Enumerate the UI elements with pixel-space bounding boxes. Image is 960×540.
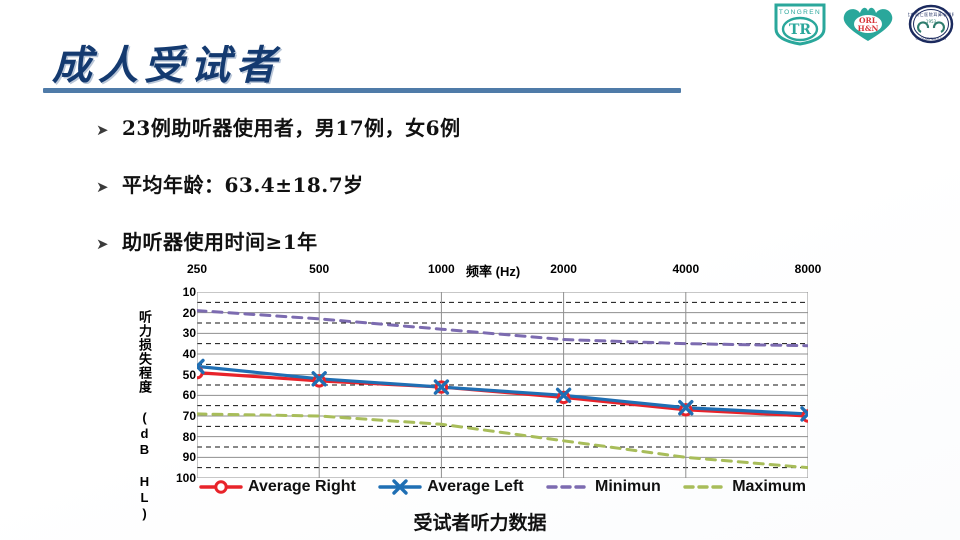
x-tick-label: 8000 xyxy=(795,262,822,276)
institution-emblem: 北京同仁医院耳鼻咽喉科 1953 OTOLARYNGOLOGY xyxy=(908,4,954,49)
y-tick-label: 50 xyxy=(183,368,196,382)
x-tick-label: 1000 xyxy=(428,262,455,276)
slide-canvas: TONGREN TR ORL H&N 北京同仁医院耳鼻咽喉科 1953 OTOL… xyxy=(0,0,960,540)
svg-text:H&N: H&N xyxy=(858,24,879,33)
bullet-arrow-icon: ➤ xyxy=(96,180,122,195)
y-tick-label: 90 xyxy=(183,450,196,464)
bullet-text: 助听器使用时间≥1年 xyxy=(122,226,318,255)
bullet-arrow-icon: ➤ xyxy=(96,123,122,138)
audiogram-chart: 2505001000200040008000 频率 (Hz) 听力损失程度 (d… xyxy=(140,262,820,507)
x-tick-label: 500 xyxy=(309,262,329,276)
plot-area xyxy=(197,292,808,478)
y-tick-label: 80 xyxy=(183,430,196,444)
legend-item[interactable]: Average Left xyxy=(378,478,523,496)
y-tick-label: 40 xyxy=(183,347,196,361)
bullet-text: 23例助听器使用者，男17例，女6例 xyxy=(122,112,461,141)
legend-label: Maximum xyxy=(732,478,806,496)
legend-item[interactable]: Average Right xyxy=(199,478,356,496)
y-axis-tick-labels: 102030405060708090100 xyxy=(158,284,196,474)
y-tick-label: 100 xyxy=(176,471,196,485)
x-tick-label: 4000 xyxy=(672,262,699,276)
y-tick-label: 20 xyxy=(183,306,196,320)
svg-text:OTOLARYNGOLOGY: OTOLARYNGOLOGY xyxy=(916,37,947,41)
y-axis-title: 听力损失程度 (dB HL) xyxy=(134,310,154,522)
x-tick-label: 2000 xyxy=(550,262,577,276)
y-tick-label: 30 xyxy=(183,326,196,340)
page-title: 成人受试者 xyxy=(52,33,282,91)
svg-text:北京同仁医院耳鼻咽喉科: 北京同仁医院耳鼻咽喉科 xyxy=(908,11,954,17)
legend-swatch-icon xyxy=(378,478,422,496)
x-tick-label: 250 xyxy=(187,262,207,276)
bullet-arrow-icon: ➤ xyxy=(96,237,122,252)
legend-label: Average Right xyxy=(248,478,356,496)
svg-text:TONGREN: TONGREN xyxy=(779,9,821,16)
legend-label: Minimun xyxy=(595,478,661,496)
chart-caption: 受试者听力数据 xyxy=(0,508,960,535)
x-axis-title: 频率 (Hz) xyxy=(466,261,520,280)
orl-hn-logo: ORL H&N xyxy=(840,4,896,49)
list-item: ➤ 平均年龄：63.4±18.7岁 xyxy=(96,169,696,226)
legend-swatch-icon xyxy=(199,478,243,496)
legend-swatch-icon xyxy=(683,478,727,496)
y-tick-label: 60 xyxy=(183,388,196,402)
y-tick-label: 70 xyxy=(183,409,196,423)
tongren-logo: TONGREN TR xyxy=(772,2,828,51)
logo-bar: TONGREN TR ORL H&N 北京同仁医院耳鼻咽喉科 1953 OTOL… xyxy=(772,2,954,51)
bullet-list: ➤ 23例助听器使用者，男17例，女6例 ➤ 平均年龄：63.4±18.7岁 ➤… xyxy=(96,112,696,283)
list-item: ➤ 23例助听器使用者，男17例，女6例 xyxy=(96,112,696,169)
bullet-text: 平均年龄：63.4±18.7岁 xyxy=(122,169,364,198)
y-tick-label: 10 xyxy=(183,285,196,299)
legend-item[interactable]: Maximum xyxy=(683,478,806,496)
legend-item[interactable]: Minimun xyxy=(546,478,661,496)
legend-label: Average Left xyxy=(427,478,523,496)
legend-swatch-icon xyxy=(546,478,590,496)
title-underline xyxy=(43,88,681,93)
chart-legend: Average RightAverage LeftMinimunMaximum xyxy=(197,474,808,500)
svg-text:TR: TR xyxy=(789,22,811,38)
